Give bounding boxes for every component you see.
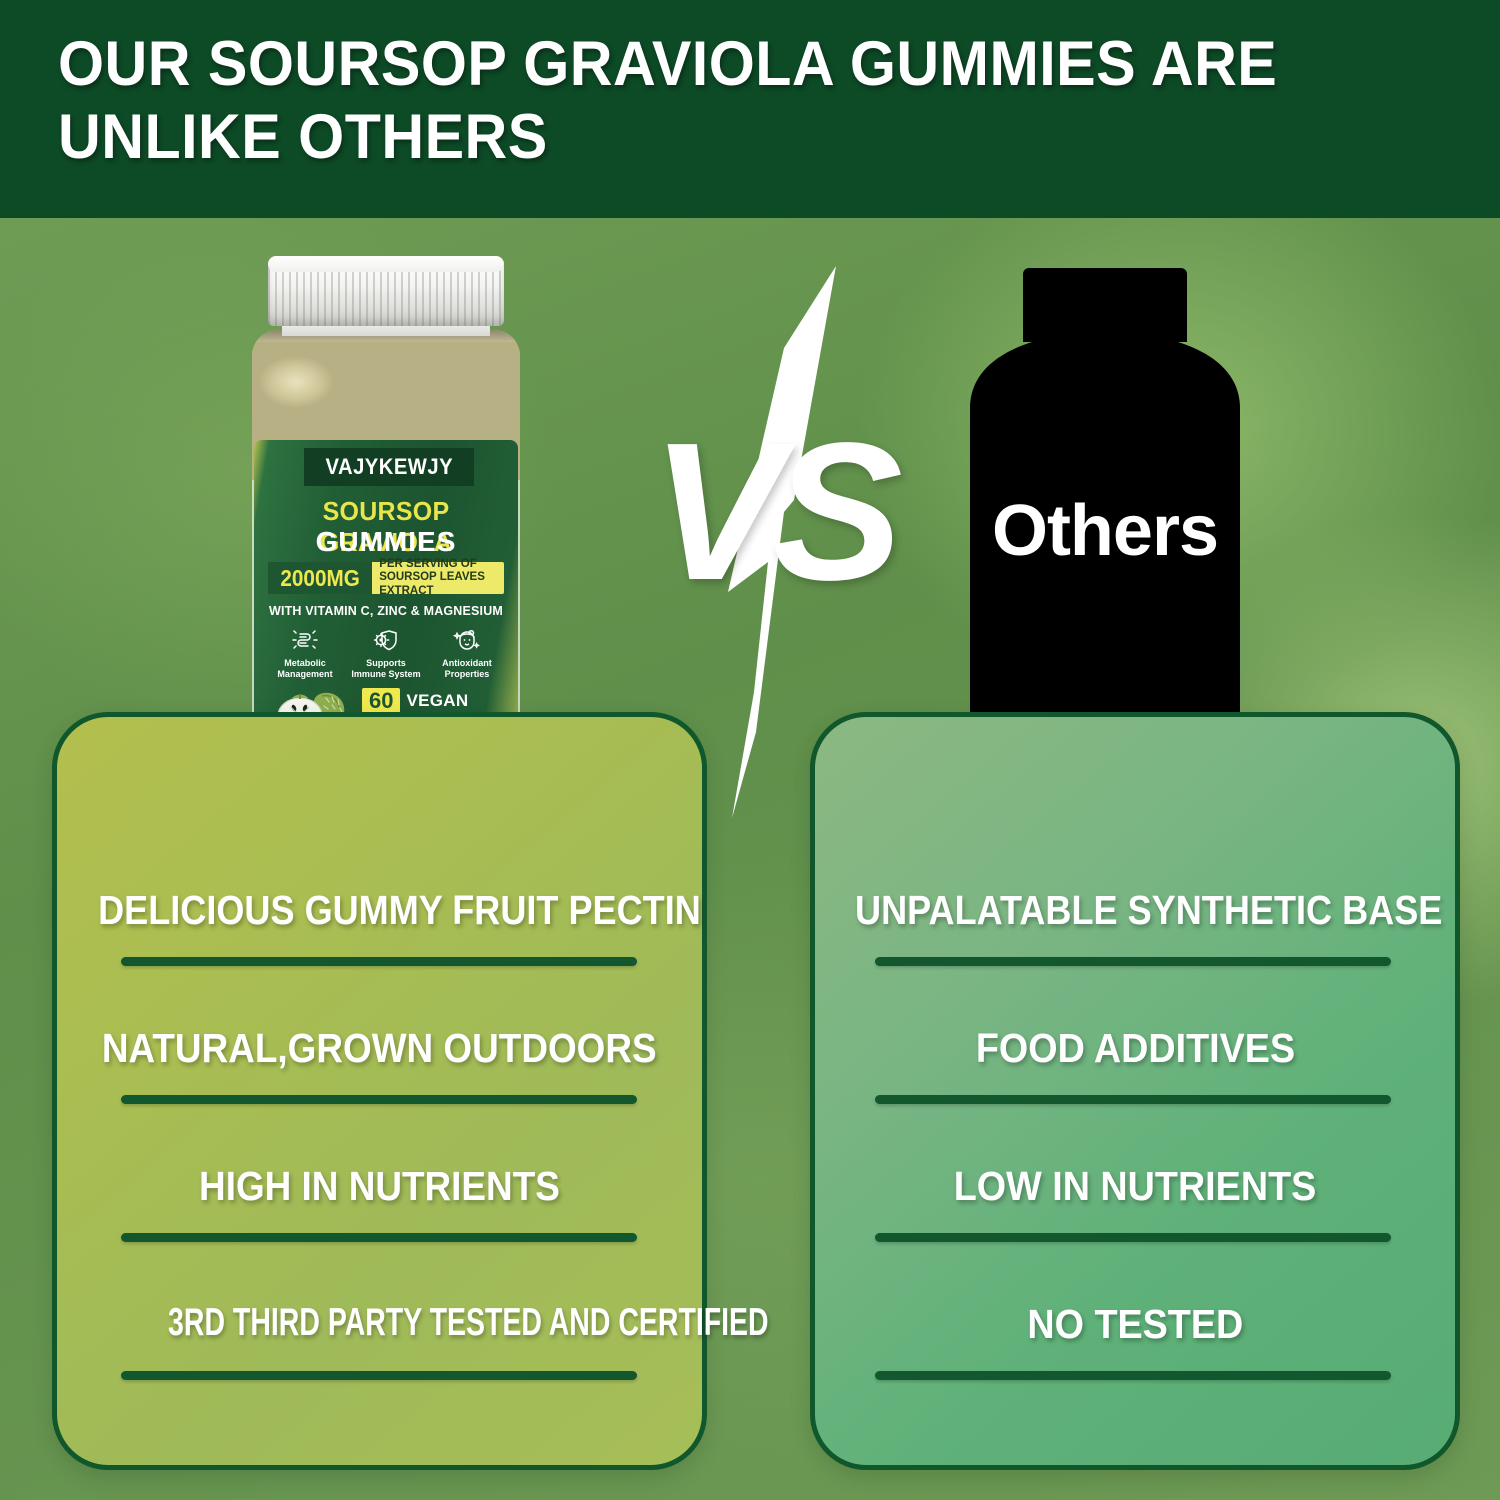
- ours-feature-1: NATURAL,GROWN OUTDOORS: [57, 1025, 702, 1072]
- ours-feature-3-label: 3RD THIRD PARTY TESTED AND CERTIFIED: [168, 1301, 769, 1345]
- brand-bar: VAJYKEWJY: [304, 448, 474, 486]
- page-title: OUR SOURSOP GRAVIOLA GUMMIES ARE UNLIKE …: [58, 28, 1318, 174]
- others-divider-2: [875, 1233, 1391, 1242]
- others-divider-3: [875, 1371, 1391, 1380]
- ours-feature-2: HIGH IN NUTRIENTS: [57, 1163, 702, 1210]
- others-feature-1-label: FOOD ADDITIVES: [975, 1025, 1294, 1072]
- benefit-metabolic-line2: Management: [270, 670, 340, 681]
- others-divider-1: [875, 1095, 1391, 1104]
- others-feature-3-label: NO TESTED: [1027, 1301, 1243, 1348]
- ours-panel: DELICIOUS GUMMY FRUIT PECTIN NATURAL,GRO…: [52, 712, 707, 1470]
- ours-feature-3: 3RD THIRD PARTY TESTED AND CERTIFIED: [57, 1301, 702, 1345]
- bottle-label: VAJYKEWJY SOURSOP GRAVIOLA GUMMIES 2000M…: [254, 440, 518, 740]
- others-feature-0-label: UNPALATABLE SYNTHETIC BASE: [855, 887, 1442, 934]
- others-feature-2-label: LOW IN NUTRIENTS: [954, 1163, 1317, 1210]
- others-feature-1: FOOD ADDITIVES: [815, 1025, 1455, 1072]
- ours-feature-0: DELICIOUS GUMMY FRUIT PECTIN: [57, 887, 702, 934]
- ours-divider-0: [121, 957, 637, 966]
- product-subtitle: GUMMIES: [254, 526, 518, 558]
- dose-badge: 2000MG: [268, 562, 372, 594]
- vitamins-line: WITH VITAMIN C, ZINC & MAGNESIUM: [259, 603, 512, 618]
- ours-feature-2-label: HIGH IN NUTRIENTS: [199, 1163, 560, 1210]
- others-divider-0: [875, 957, 1391, 966]
- ours-divider-1: [121, 1095, 637, 1104]
- dose-description: PER SERVING OF SOURSOP LEAVES EXTRACT: [372, 562, 504, 594]
- ours-feature-1-label: NATURAL,GROWN OUTDOORS: [102, 1025, 657, 1072]
- count-unit-line1: VEGAN: [406, 691, 468, 711]
- shield-virus-icon: [371, 626, 401, 656]
- ours-divider-3: [121, 1371, 637, 1380]
- gummy-count: 60: [362, 688, 400, 713]
- intestine-icon: [290, 626, 320, 656]
- brand-name: VAJYKEWJY: [325, 454, 452, 480]
- others-feature-2: LOW IN NUTRIENTS: [815, 1163, 1455, 1210]
- others-feature-3: NO TESTED: [815, 1301, 1455, 1348]
- benefit-immune-line2: Immune System: [351, 670, 421, 681]
- benefit-antioxidant-line2: Properties: [432, 670, 502, 681]
- bottle-cap-top: [268, 256, 504, 272]
- ours-divider-2: [121, 1233, 637, 1242]
- others-panel: UNPALATABLE SYNTHETIC BASE FOOD ADDITIVE…: [810, 712, 1460, 1470]
- header-banner: OUR SOURSOP GRAVIOLA GUMMIES ARE UNLIKE …: [0, 0, 1500, 218]
- ours-feature-0-label: DELICIOUS GUMMY FRUIT PECTIN: [98, 887, 701, 934]
- face-glow-icon: [452, 626, 482, 656]
- versus-label: VS: [622, 414, 922, 610]
- dose-row: 2000MG PER SERVING OF SOURSOP LEAVES EXT…: [268, 562, 504, 594]
- dose-badge-text: 2000MG: [280, 565, 359, 592]
- others-feature-0: UNPALATABLE SYNTHETIC BASE: [815, 887, 1455, 934]
- others-label: Others: [955, 490, 1255, 572]
- infographic-canvas: OUR SOURSOP GRAVIOLA GUMMIES ARE UNLIKE …: [0, 0, 1500, 1500]
